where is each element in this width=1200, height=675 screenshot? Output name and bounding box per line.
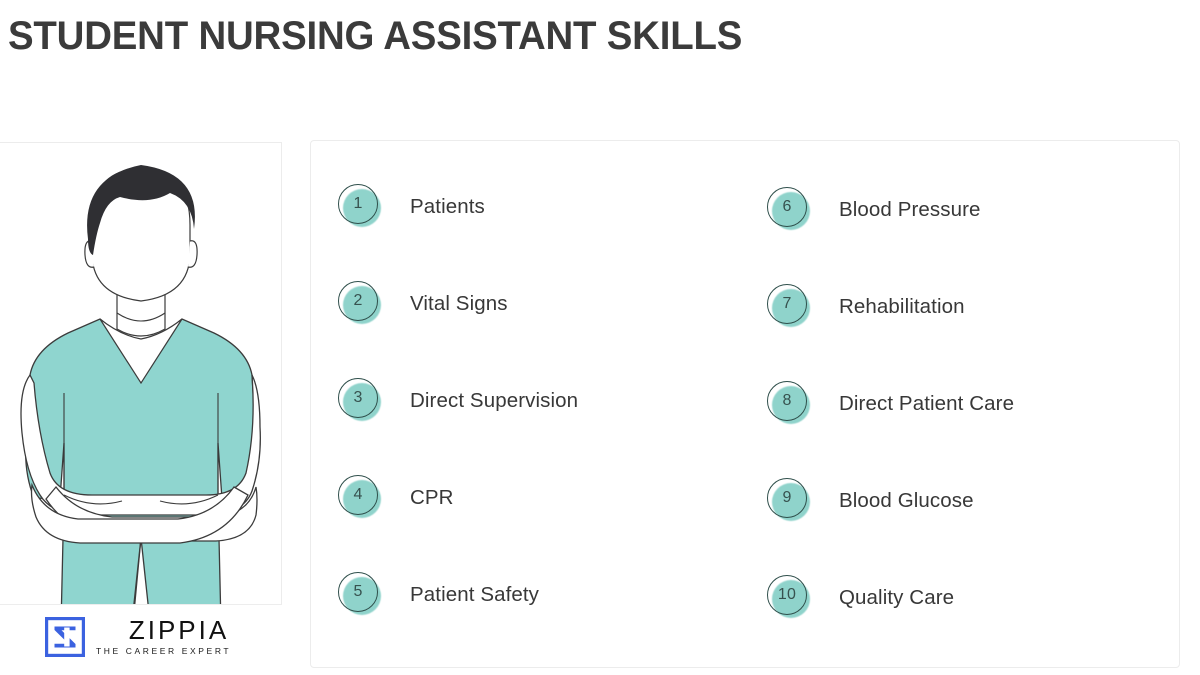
zippia-logo[interactable]: ZIPPIA THE CAREER EXPERT (0, 604, 282, 668)
list-item[interactable]: 10 Quality Care (766, 574, 1014, 621)
skills-columns: 1 Patients 2 Vital Signs 3 Direct Superv… (311, 141, 1179, 667)
number-badge-icon: 9 (766, 477, 813, 524)
number-badge-icon: 3 (337, 377, 384, 424)
illustration-panel (0, 142, 282, 668)
student-nursing-assistant-illustration (0, 143, 282, 668)
badge-number: 1 (353, 196, 362, 212)
list-item[interactable]: 9 Blood Glucose (766, 477, 1014, 524)
skill-label: Blood Pressure (839, 198, 981, 222)
skill-label: Vital Signs (410, 292, 508, 316)
page-title: STUDENT NURSING ASSISTANT SKILLS (8, 14, 742, 59)
skill-label: Direct Supervision (410, 389, 578, 413)
zippia-z-mark (45, 617, 85, 657)
number-badge-icon: 4 (337, 474, 384, 521)
list-item[interactable]: 6 Blood Pressure (766, 186, 1014, 233)
list-item[interactable]: 3 Direct Supervision (337, 377, 578, 424)
badge-number: 8 (782, 393, 791, 409)
list-item[interactable]: 4 CPR (337, 474, 578, 521)
skills-column-right: 6 Blood Pressure 7 Rehabilitation 8 Dire… (766, 186, 1014, 621)
badge-number: 4 (353, 487, 362, 503)
list-item[interactable]: 5 Patient Safety (337, 571, 578, 618)
list-item[interactable]: 2 Vital Signs (337, 280, 578, 327)
number-badge-icon: 2 (337, 280, 384, 327)
number-badge-icon: 1 (337, 183, 384, 230)
zippia-tagline: THE CAREER EXPERT (96, 647, 231, 656)
badge-number: 9 (782, 490, 791, 506)
number-badge-icon: 6 (766, 186, 813, 233)
skill-label: Quality Care (839, 586, 954, 610)
badge-number: 6 (782, 199, 791, 215)
zippia-wordmark: ZIPPIA THE CAREER EXPERT (96, 617, 229, 656)
skills-column-left: 1 Patients 2 Vital Signs 3 Direct Superv… (337, 183, 578, 618)
skill-label: Direct Patient Care (839, 392, 1014, 416)
zippia-name: ZIPPIA (129, 617, 229, 643)
number-badge-icon: 7 (766, 283, 813, 330)
skills-panel: 1 Patients 2 Vital Signs 3 Direct Superv… (310, 140, 1180, 668)
list-item[interactable]: 8 Direct Patient Care (766, 380, 1014, 427)
number-badge-icon: 8 (766, 380, 813, 427)
skill-label: Patient Safety (410, 583, 539, 607)
badge-number: 7 (782, 296, 791, 312)
list-item[interactable]: 7 Rehabilitation (766, 283, 1014, 330)
number-badge-icon: 5 (337, 571, 384, 618)
badge-number: 3 (353, 390, 362, 406)
list-item[interactable]: 1 Patients (337, 183, 578, 230)
skill-label: Blood Glucose (839, 489, 974, 513)
skill-label: Patients (410, 195, 485, 219)
skill-label: CPR (410, 486, 454, 510)
number-badge-icon: 10 (766, 574, 813, 621)
badge-number: 2 (353, 293, 362, 309)
badge-number: 10 (778, 587, 796, 603)
badge-number: 5 (353, 584, 362, 600)
skill-label: Rehabilitation (839, 295, 965, 319)
